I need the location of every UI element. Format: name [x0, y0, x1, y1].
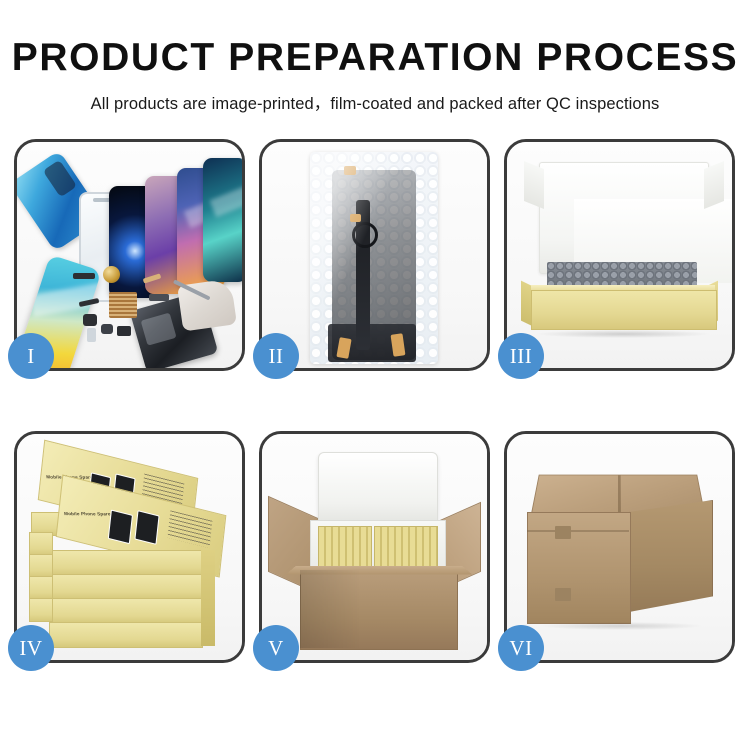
carton-side-face: [629, 500, 713, 612]
phone-teal-graphic: [203, 158, 242, 282]
step-badge-1: I: [8, 333, 54, 379]
component-graphic: [117, 326, 131, 336]
component-graphic: [83, 314, 97, 326]
drop-shadow: [537, 330, 709, 338]
screwdriver-graphic: [177, 278, 237, 331]
box-front-layer: [49, 598, 203, 624]
box-front-layer: [49, 622, 203, 648]
step-6-photo: [507, 434, 732, 660]
coil-component-graphic: [103, 266, 120, 283]
component-graphic: [73, 273, 95, 279]
bubble-wrap-gloss: [310, 152, 438, 364]
page-title: PRODUCT PREPARATION PROCESS: [0, 38, 750, 77]
process-step-grid: I II: [14, 139, 736, 695]
grid-chip-graphic: [109, 292, 137, 318]
step-panel-2: II: [259, 139, 490, 371]
bubble-wrap-bag-graphic: [310, 152, 438, 364]
drop-shadow: [541, 622, 701, 630]
box-label-spec-lines: [167, 510, 212, 548]
box-side-layer: [29, 532, 53, 556]
carton-shading: [300, 570, 360, 648]
box-front-layer: [49, 574, 203, 600]
box-side-layer: [29, 554, 53, 578]
step-panel-4: Mobile Phone Spare Parts Mobile Phone Sp…: [14, 431, 245, 663]
step-panel-3: III: [504, 139, 735, 371]
step-3-photo: [507, 142, 732, 368]
tape-tab: [555, 526, 571, 539]
foam-lid-graphic: [539, 162, 709, 274]
box-side-layer: [29, 598, 53, 622]
component-graphic: [149, 294, 169, 301]
step-badge-5: V: [253, 625, 299, 671]
step-badge-2: II: [253, 333, 299, 379]
component-graphic: [101, 324, 113, 334]
box-side-layer: [29, 576, 53, 600]
inner-box-front-face: [531, 290, 717, 330]
yellow-box-batch-left: [318, 526, 372, 570]
step-2-photo: [262, 142, 487, 368]
step-panel-6: VI: [504, 431, 735, 663]
component-graphic: [87, 328, 96, 342]
step-badge-4: IV: [8, 625, 54, 671]
carton-front-face: [527, 512, 631, 624]
box-front-layer: [49, 550, 203, 576]
step-panel-1: I: [14, 139, 245, 371]
product-preparation-infographic: PRODUCT PREPARATION PROCESS All products…: [0, 0, 750, 750]
box-stack-right-edge: [201, 550, 215, 646]
yellow-box-batch-right: [374, 526, 438, 570]
box-stack-graphic: Mobile Phone Spare Parts Mobile Phone Sp…: [23, 452, 241, 652]
box-label-phone-art: [134, 510, 159, 545]
foam-lid-graphic: [318, 452, 438, 526]
step-badge-3: III: [498, 333, 544, 379]
tape-tab: [555, 588, 571, 601]
box-label-phone-art: [108, 510, 133, 545]
step-4-photo: Mobile Phone Spare Parts Mobile Phone Sp…: [17, 434, 242, 660]
page-subtitle: All products are image-printed，film-coat…: [0, 90, 750, 114]
step-5-photo: [262, 434, 487, 660]
carton-seam: [527, 530, 629, 532]
step-badge-6: VI: [498, 625, 544, 671]
step-panel-5: V: [259, 431, 490, 663]
header: PRODUCT PREPARATION PROCESS All products…: [0, 0, 750, 114]
step-1-photo: [17, 142, 242, 368]
